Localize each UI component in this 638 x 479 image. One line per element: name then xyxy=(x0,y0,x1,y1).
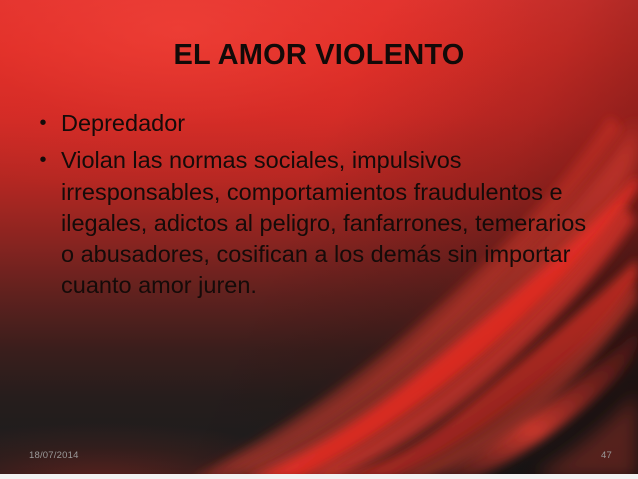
bullet-text: Depredador xyxy=(56,108,590,139)
bullet-item: • Depredador xyxy=(30,108,590,139)
footer-page-number: 47 xyxy=(601,450,612,461)
bullet-text: Violan las normas sociales, impulsivos i… xyxy=(56,145,590,301)
slide-body: • Depredador • Violan las normas sociale… xyxy=(30,108,590,302)
slide-bottom-edge xyxy=(0,474,638,479)
bullet-item: • Violan las normas sociales, impulsivos… xyxy=(30,145,590,301)
bullet-marker-icon: • xyxy=(30,108,56,138)
presentation-slide: EL AMOR VIOLENTO • Depredador • Violan l… xyxy=(0,0,638,479)
footer-date: 18/07/2014 xyxy=(29,450,79,461)
bullet-marker-icon: • xyxy=(30,145,56,175)
slide-title: EL AMOR VIOLENTO xyxy=(0,40,638,72)
